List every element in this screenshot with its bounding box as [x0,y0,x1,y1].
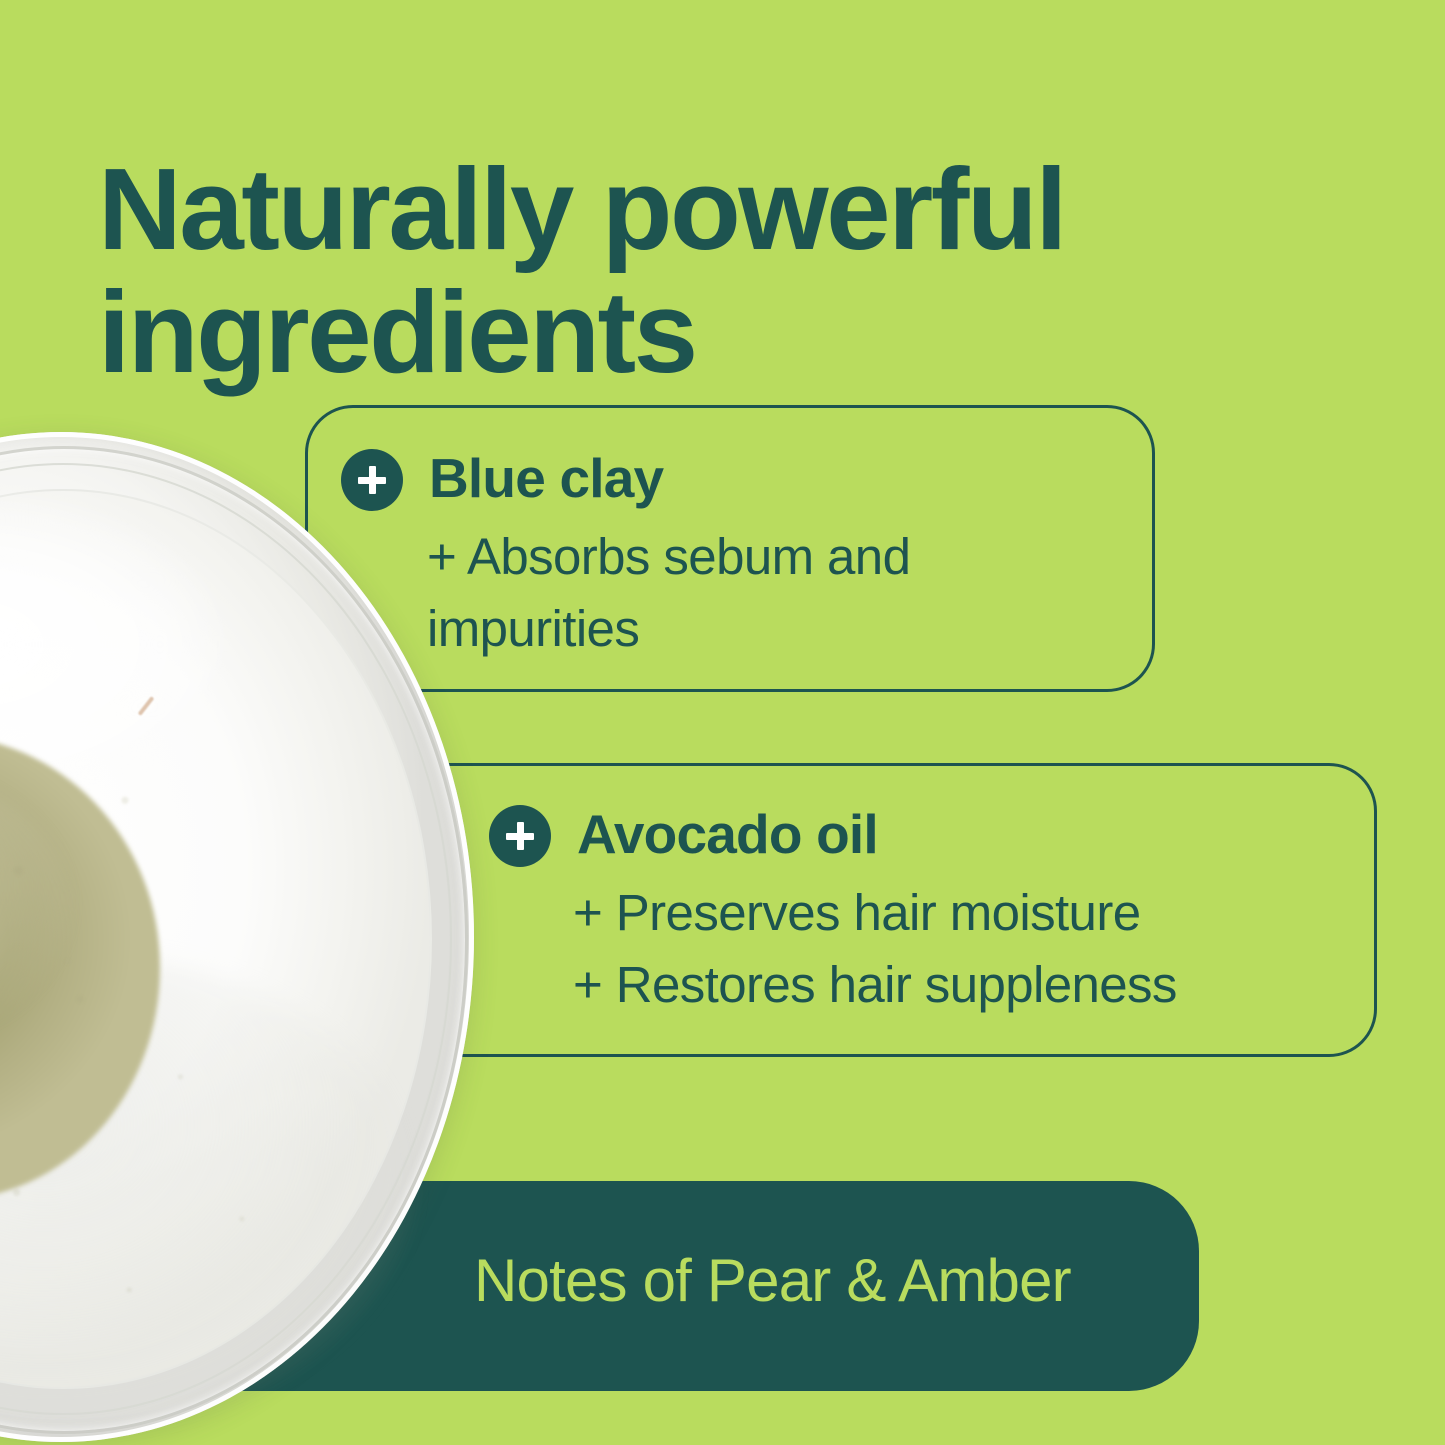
ingredient-benefits-blue-clay: + Absorbs sebum and impurities [427,521,1087,665]
ingredient-title-blue-clay: Blue clay [429,447,663,509]
fragrance-banner-label: Notes of Pear & Amber [474,1246,1071,1316]
bowl-highlight [0,493,226,796]
ingredient-title-avocado-oil: Avocado oil [577,803,878,865]
clay-powder-highlight [0,775,69,1038]
page-title: Naturally powerful ingredients [98,148,1228,394]
ingredient-benefits-avocado-oil: + Preserves hair moisture + Restores hai… [573,877,1373,1021]
plus-icon [489,805,551,867]
product-ingredients-panel: Naturally powerful ingredients Notes of … [0,0,1445,1445]
bowl-rim-fleck [137,696,154,716]
clay-powder-mound [0,735,160,1200]
plus-icon [341,449,403,511]
